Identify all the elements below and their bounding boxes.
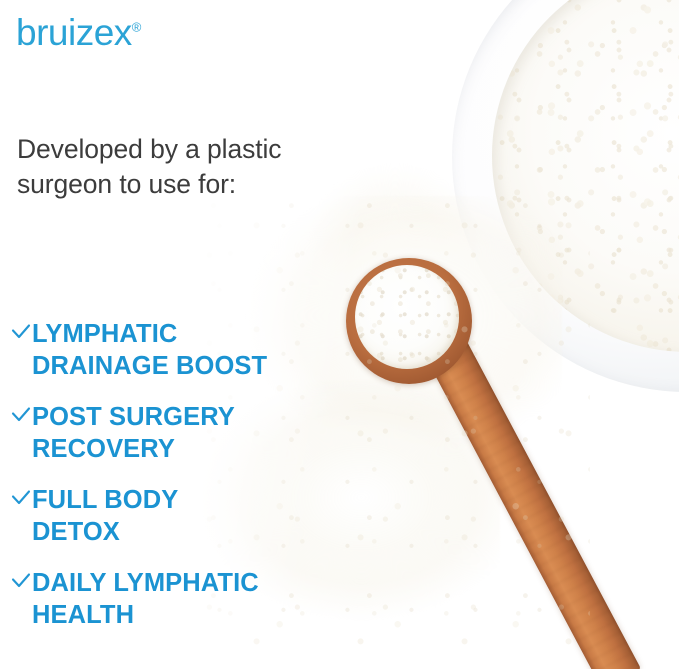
benefit-label: FULL BODY DETOX <box>32 484 178 548</box>
benefits-list: LYMPHATIC DRAINAGE BOOST POST SURGERY RE… <box>10 318 370 631</box>
check-icon <box>10 321 32 349</box>
content-layer: bruizex® Developed by a plastic surgeon … <box>0 0 679 669</box>
benefit-label: POST SURGERY RECOVERY <box>32 401 235 465</box>
check-icon <box>10 404 32 432</box>
brand-logo-text: bruizex <box>16 12 132 53</box>
check-icon <box>10 570 32 598</box>
check-icon <box>10 487 32 515</box>
benefit-label: DAILY LYMPHATIC HEALTH <box>32 567 259 631</box>
benefit-item: LYMPHATIC DRAINAGE BOOST <box>10 318 370 382</box>
brand-logo: bruizex® <box>16 14 141 51</box>
benefit-item: FULL BODY DETOX <box>10 484 370 548</box>
product-infographic: bruizex® Developed by a plastic surgeon … <box>0 0 679 669</box>
benefit-item: POST SURGERY RECOVERY <box>10 401 370 465</box>
benefit-label: LYMPHATIC DRAINAGE BOOST <box>32 318 267 382</box>
benefit-item: DAILY LYMPHATIC HEALTH <box>10 567 370 631</box>
headline: Developed by a plastic surgeon to use fo… <box>17 132 317 202</box>
registered-trademark-icon: ® <box>132 20 142 35</box>
